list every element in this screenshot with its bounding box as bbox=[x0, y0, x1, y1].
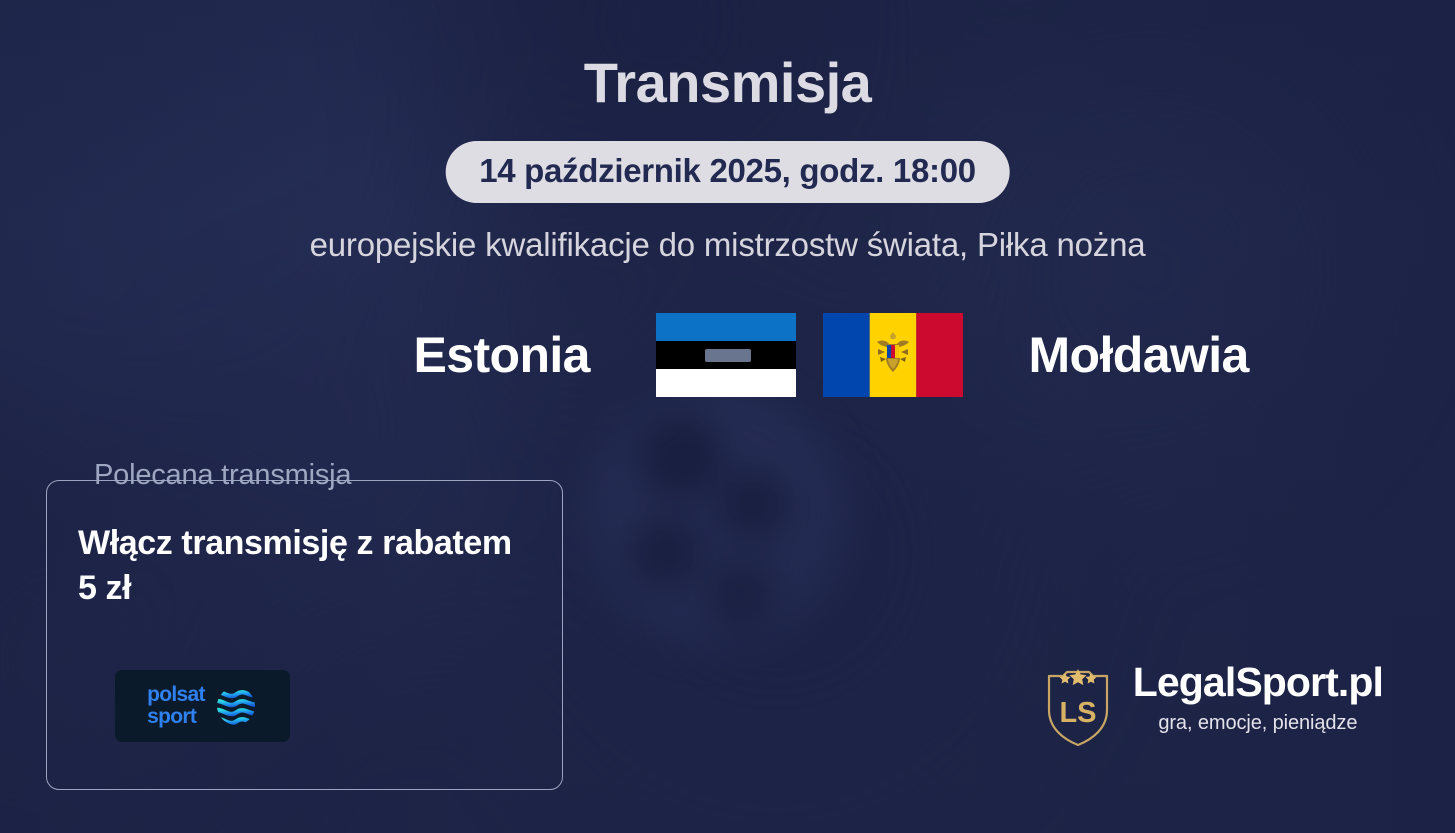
match-datetime-badge: 14 październik 2025, godz. 18:00 bbox=[445, 141, 1010, 203]
polsat-wordmark-line2: sport bbox=[147, 706, 205, 728]
promo-headline: Włącz transmisję z rabatem 5 zł bbox=[78, 521, 522, 611]
legalsport-brand[interactable]: LS LegalSport.pl gra, emocje, pieniądze bbox=[1045, 660, 1383, 748]
recommended-broadcast-legend: Polecana transmisja bbox=[81, 461, 364, 490]
home-team-name: Estonia bbox=[414, 326, 590, 384]
page-title: Transmisja bbox=[0, 50, 1455, 115]
polsat-sport-wordmark: polsat sport bbox=[147, 684, 205, 729]
recommended-broadcast-card: Polecana transmisja Włącz transmisję z r… bbox=[46, 480, 563, 790]
match-teams-row: Estonia bbox=[0, 300, 1455, 410]
away-team-name: Mołdawia bbox=[1029, 326, 1249, 384]
score-separator bbox=[705, 349, 751, 362]
away-team: Mołdawia bbox=[795, 313, 1242, 397]
polsat-wordmark-line1: polsat bbox=[147, 684, 205, 706]
brand-tagline: gra, emocje, pieniądze bbox=[1158, 712, 1357, 735]
legalsport-shield-icon: LS bbox=[1045, 664, 1111, 748]
polsat-globe-icon bbox=[214, 684, 258, 728]
shield-monogram: LS bbox=[1059, 697, 1096, 729]
polsat-sport-logo[interactable]: polsat sport bbox=[115, 670, 290, 742]
brand-name: LegalSport.pl bbox=[1133, 660, 1383, 706]
competition-subtitle: europejskie kwalifikacje do mistrzostw ś… bbox=[0, 226, 1455, 264]
home-team: Estonia bbox=[214, 313, 661, 397]
broadcast-promo-page: Transmisja 14 październik 2025, godz. 18… bbox=[0, 0, 1455, 833]
brand-text-block: LegalSport.pl gra, emocje, pieniądze bbox=[1133, 660, 1383, 735]
moldova-flag-icon bbox=[823, 313, 963, 397]
